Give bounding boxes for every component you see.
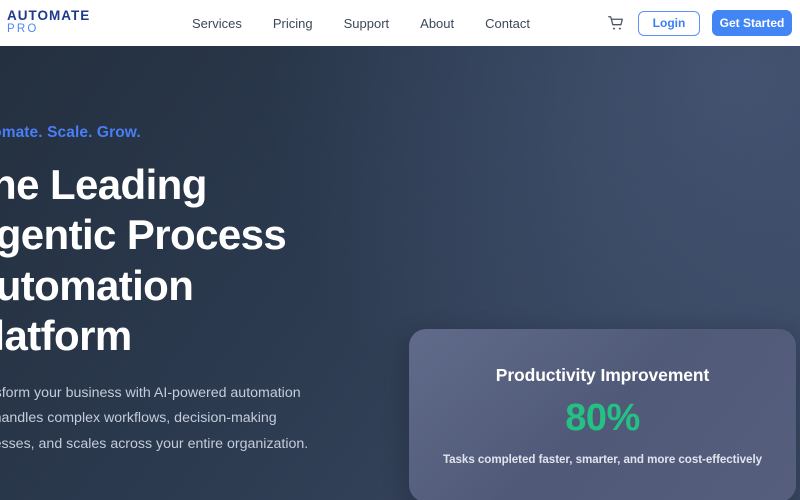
stat-card-title: Productivity Improvement	[496, 365, 709, 386]
header-actions: Login Get Started	[604, 0, 792, 46]
brand-logo-sub: PRO	[7, 23, 90, 36]
productivity-stat-card: Productivity Improvement 80% Tasks compl…	[409, 329, 796, 500]
main-navigation: Services Pricing Support About Contact	[192, 0, 530, 46]
hero-section: Automate. Scale. Grow. The Leading Agent…	[0, 46, 800, 500]
landing-page: AUTOMATE PRO Services Pricing Support Ab…	[0, 0, 800, 500]
stat-card-value: 80%	[565, 399, 640, 439]
hero-content: Automate. Scale. Grow. The Leading Agent…	[0, 124, 386, 458]
shopping-cart-icon[interactable]	[604, 12, 626, 34]
nav-item-support[interactable]: Support	[344, 16, 390, 31]
nav-item-about[interactable]: About	[420, 16, 454, 31]
hero-subcopy: Transform your business with AI-powered …	[0, 381, 322, 459]
hero-headline: The Leading Agentic Process Automation P…	[0, 160, 366, 362]
site-header: AUTOMATE PRO Services Pricing Support Ab…	[0, 0, 800, 46]
get-started-button[interactable]: Get Started	[712, 10, 792, 36]
nav-item-contact[interactable]: Contact	[485, 16, 530, 31]
hero-eyebrow: Automate. Scale. Grow.	[0, 124, 386, 142]
login-button[interactable]: Login	[638, 11, 700, 36]
brand-logo[interactable]: AUTOMATE PRO	[7, 9, 90, 36]
nav-item-pricing[interactable]: Pricing	[273, 16, 313, 31]
brand-logo-main: AUTOMATE	[7, 9, 90, 23]
stat-card-caption: Tasks completed faster, smarter, and mor…	[443, 453, 762, 466]
nav-item-services[interactable]: Services	[192, 16, 242, 31]
